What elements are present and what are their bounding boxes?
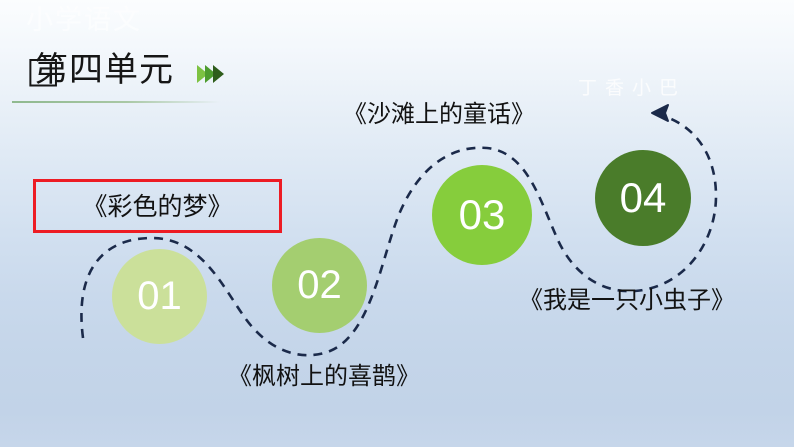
node-circle-01[interactable]: 01 [112,249,207,344]
node-circle-04[interactable]: 04 [595,150,691,246]
node-label-04: 《我是一只小虫子》 [519,288,735,312]
arrow-head-icon [652,105,668,121]
node-circle-03[interactable]: 03 [432,165,532,265]
node-label-02: 《枫树上的喜鹊》 [228,364,420,388]
highlight-box-node-01[interactable]: 《彩色的梦》 [33,179,282,233]
node-label-03: 《沙滩上的童话》 [343,102,535,126]
slide-canvas: 小学语文 丁香小巴 □ 第四单元 01 02 03 04 《彩色的梦》 《沙滩上… [0,0,794,447]
node-label-01: 《彩色的梦》 [82,194,232,219]
node-circle-02[interactable]: 02 [272,238,367,333]
